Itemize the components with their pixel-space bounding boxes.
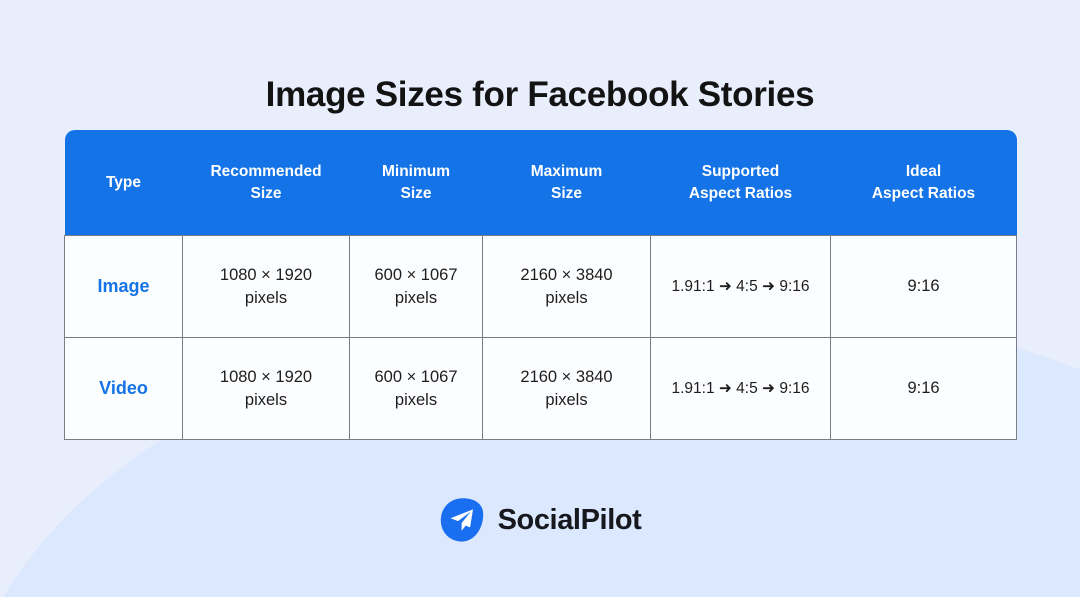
table-header: Type Recommended Size Minimum Size Maxim… — [65, 130, 1017, 236]
brand-logo: SocialPilot — [0, 497, 1080, 543]
column-header-supported-aspect-ratios-line1: Supported — [702, 163, 780, 180]
cell-recommended-size-line1: 1080 × 1920 — [220, 266, 312, 284]
column-header-supported-aspect-ratios: Supported Aspect Ratios — [651, 130, 831, 236]
table-row: Image 1080 × 1920 pixels 600 × 1067 pixe… — [65, 236, 1017, 338]
paper-plane-icon — [439, 497, 485, 543]
cell-type: Video — [65, 338, 183, 440]
cell-ideal-aspect-ratios: 9:16 — [831, 236, 1017, 338]
cell-maximum-size-line1: 2160 × 3840 — [520, 266, 612, 284]
cell-maximum-size-line1: 2160 × 3840 — [520, 368, 612, 386]
column-header-minimum-size: Minimum Size — [350, 130, 483, 236]
cell-minimum-size-line2: pixels — [354, 389, 478, 412]
cell-recommended-size: 1080 × 1920 pixels — [183, 236, 350, 338]
cell-supported-aspect-ratios: 1.91:1 ➜ 4:5 ➜ 9:16 — [651, 236, 831, 338]
column-header-minimum-size-line1: Minimum — [382, 163, 450, 180]
cell-maximum-size: 2160 × 3840 pixels — [483, 236, 651, 338]
column-header-ideal-aspect-ratios-line2: Aspect Ratios — [831, 183, 1017, 204]
table-body: Image 1080 × 1920 pixels 600 × 1067 pixe… — [65, 236, 1017, 440]
column-header-type: Type — [65, 130, 183, 236]
size-table: Type Recommended Size Minimum Size Maxim… — [64, 130, 1017, 440]
cell-recommended-size-line2: pixels — [187, 287, 345, 310]
cell-supported-aspect-ratios: 1.91:1 ➜ 4:5 ➜ 9:16 — [651, 338, 831, 440]
cell-maximum-size-line2: pixels — [487, 389, 646, 412]
cell-maximum-size: 2160 × 3840 pixels — [483, 338, 651, 440]
infographic-canvas: Image Sizes for Facebook Stories Type Re… — [0, 0, 1080, 597]
column-header-recommended-size-line2: Size — [183, 183, 350, 204]
cell-maximum-size-line2: pixels — [487, 287, 646, 310]
cell-recommended-size-line1: 1080 × 1920 — [220, 368, 312, 386]
column-header-maximum-size-line2: Size — [483, 183, 651, 204]
cell-type: Image — [65, 236, 183, 338]
column-header-recommended-size: Recommended Size — [183, 130, 350, 236]
cell-minimum-size-line2: pixels — [354, 287, 478, 310]
cell-minimum-size: 600 × 1067 pixels — [350, 236, 483, 338]
table-header-row: Type Recommended Size Minimum Size Maxim… — [65, 130, 1017, 236]
column-header-maximum-size: Maximum Size — [483, 130, 651, 236]
column-header-ideal-aspect-ratios: Ideal Aspect Ratios — [831, 130, 1017, 236]
column-header-type-line1: Type — [106, 174, 141, 191]
page-title: Image Sizes for Facebook Stories — [0, 75, 1080, 115]
cell-recommended-size-line2: pixels — [187, 389, 345, 412]
cell-ideal-aspect-ratios: 9:16 — [831, 338, 1017, 440]
size-table-container: Type Recommended Size Minimum Size Maxim… — [64, 130, 1016, 440]
cell-recommended-size: 1080 × 1920 pixels — [183, 338, 350, 440]
cell-minimum-size: 600 × 1067 pixels — [350, 338, 483, 440]
column-header-minimum-size-line2: Size — [350, 183, 483, 204]
table-row: Video 1080 × 1920 pixels 600 × 1067 pixe… — [65, 338, 1017, 440]
brand-name: SocialPilot — [498, 504, 642, 537]
column-header-maximum-size-line1: Maximum — [531, 163, 603, 180]
cell-minimum-size-line1: 600 × 1067 — [374, 266, 457, 284]
column-header-recommended-size-line1: Recommended — [210, 163, 321, 180]
column-header-supported-aspect-ratios-line2: Aspect Ratios — [651, 183, 831, 204]
column-header-ideal-aspect-ratios-line1: Ideal — [906, 163, 941, 180]
cell-minimum-size-line1: 600 × 1067 — [374, 368, 457, 386]
